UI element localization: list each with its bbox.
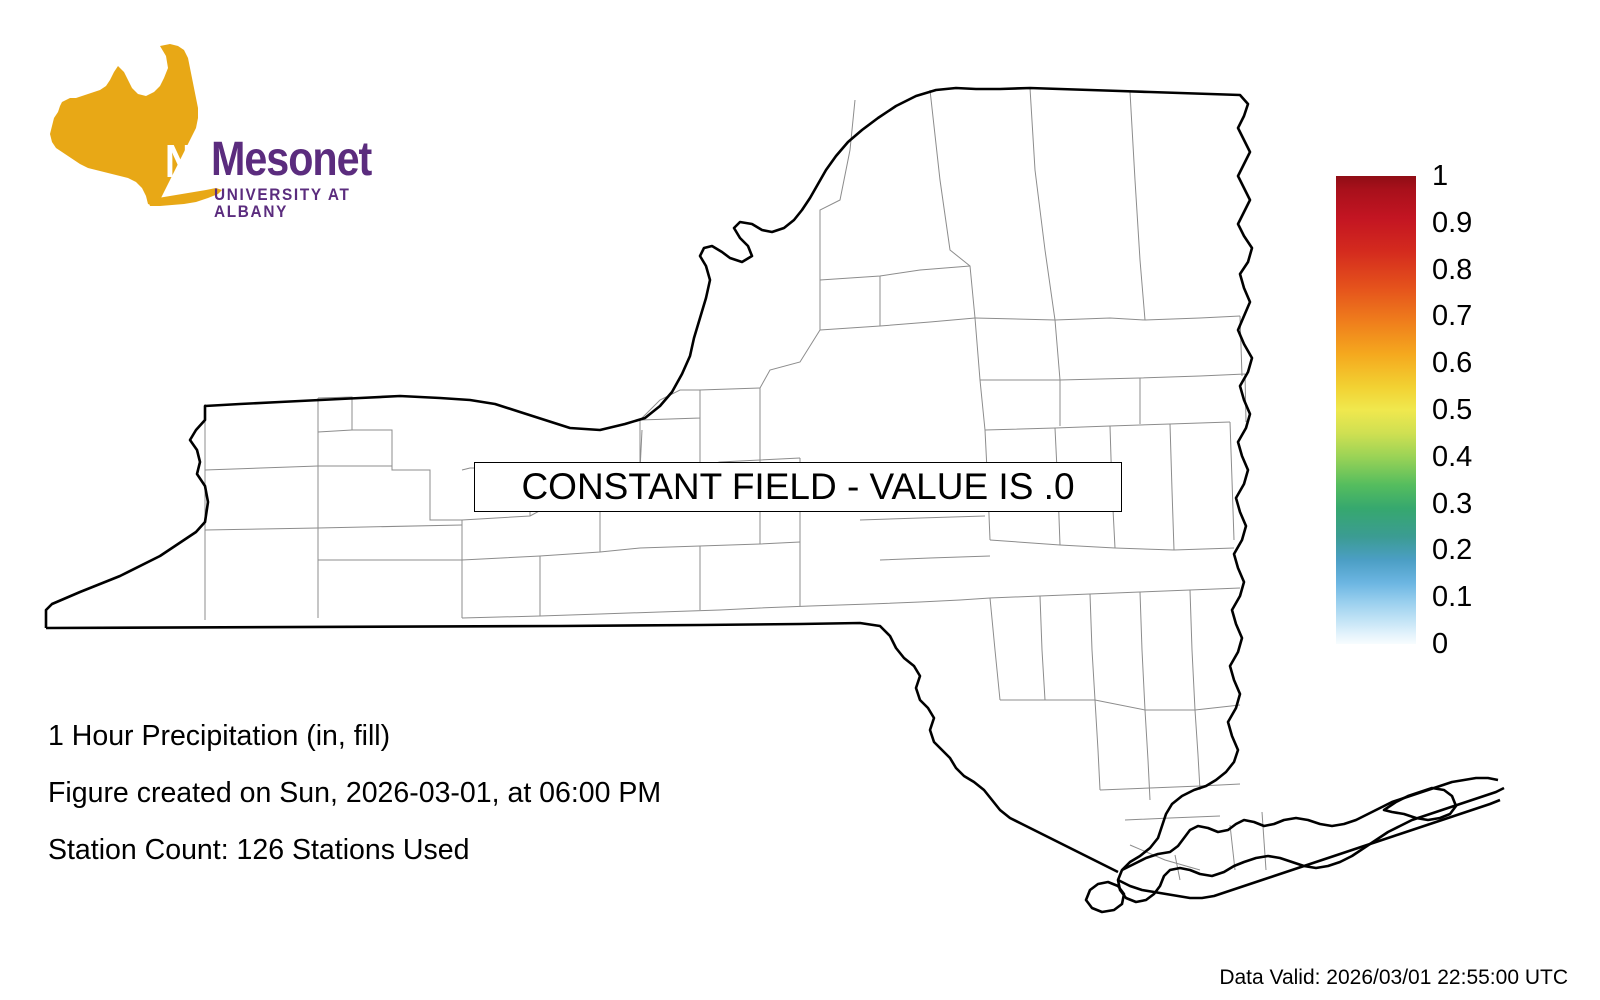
colorbar-tick-1: 1 [1432,159,1448,193]
colorbar-tick-labels: 10.90.80.70.60.50.40.30.20.10 [1422,159,1492,661]
colorbar-tick-0_4: 0.4 [1432,440,1472,474]
figure-captions: 1 Hour Precipitation (in, fill) Figure c… [48,722,661,893]
logo-university-text: UNIVERSITY AT ALBANY [214,187,385,220]
caption-created-time: Figure created on Sun, 2026-03-01, at 06… [48,779,661,809]
colorbar-tick-0_5: 0.5 [1432,393,1472,427]
colorbar-gradient [1336,176,1416,644]
constant-field-annotation-text: CONSTANT FIELD - VALUE IS .0 [521,466,1074,508]
colorbar: 10.90.80.70.60.50.40.30.20.10 [1336,176,1416,644]
constant-field-annotation-box: CONSTANT FIELD - VALUE IS .0 [474,462,1122,512]
colorbar-tick-0_7: 0.7 [1432,299,1472,333]
colorbar-tick-0_6: 0.6 [1432,346,1472,380]
colorbar-tick-0_2: 0.2 [1432,533,1472,567]
data-valid-timestamp: Data Valid: 2026/03/01 22:55:00 UTC [1219,966,1568,990]
nys-mesonet-logo: NYS Mesonet UNIVERSITY AT ALBANY [48,42,398,207]
caption-station-count: Station Count: 126 Stations Used [48,836,661,866]
colorbar-tick-0_1: 0.1 [1432,580,1472,614]
colorbar-tick-0_8: 0.8 [1432,253,1472,287]
colorbar-tick-0_3: 0.3 [1432,487,1472,521]
colorbar-tick-0: 0 [1432,627,1448,661]
caption-field-title: 1 Hour Precipitation (in, fill) [48,722,661,752]
colorbar-tick-0_9: 0.9 [1432,206,1472,240]
logo-mesonet-text: Mesonet [211,136,371,184]
